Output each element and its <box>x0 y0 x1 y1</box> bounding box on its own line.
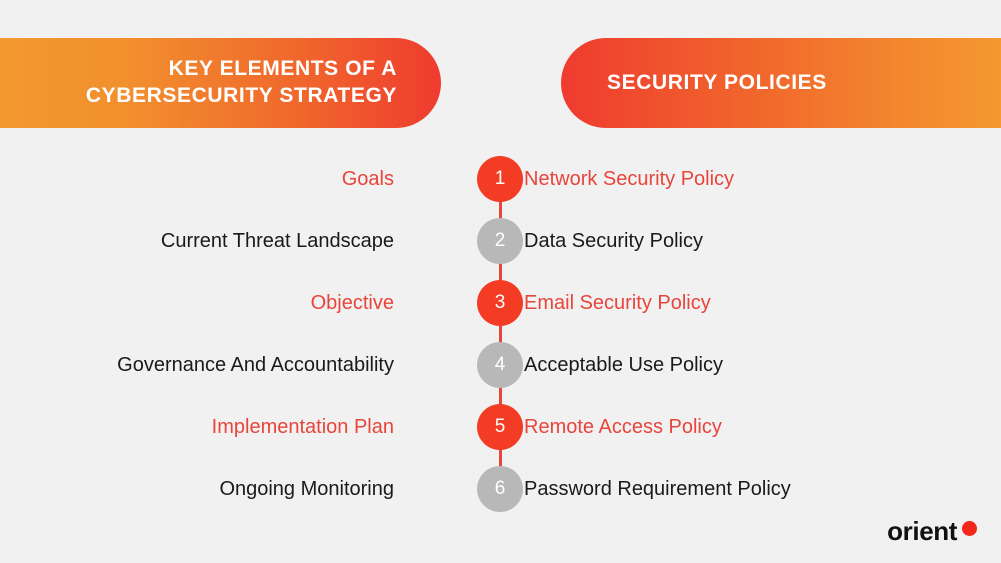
timeline-row-left: Governance And Accountability <box>0 353 460 377</box>
security-policy-label: Data Security Policy <box>524 229 703 253</box>
timeline-row: Goals 1 Network Security Policy <box>0 148 1001 210</box>
banner-key-elements: KEY ELEMENTS OF A CYBERSECURITY STRATEGY <box>0 38 441 128</box>
timeline-row: Objective 3 Email Security Policy <box>0 272 1001 334</box>
timeline-row-left: Goals <box>0 167 460 191</box>
timeline-row-right: Acceptable Use Policy <box>460 353 920 377</box>
security-policy-label: Network Security Policy <box>524 167 734 191</box>
timeline-step-number: 1 <box>477 156 523 202</box>
timeline-row-left: Implementation Plan <box>0 415 460 439</box>
timeline-row-left: Objective <box>0 291 460 315</box>
banner-right-title: SECURITY POLICIES <box>607 70 827 97</box>
logo-dot-icon <box>962 521 977 536</box>
timeline: Goals 1 Network Security Policy Current … <box>0 148 1001 520</box>
banner-left-title-line2: CYBERSECURITY STRATEGY <box>86 84 397 107</box>
security-policy-label: Password Requirement Policy <box>524 477 791 501</box>
security-policy-label: Email Security Policy <box>524 291 711 315</box>
timeline-step-number: 3 <box>477 280 523 326</box>
timeline-row: Implementation Plan 5 Remote Access Poli… <box>0 396 1001 458</box>
banner-left-title-line1: KEY ELEMENTS OF A <box>169 57 397 80</box>
timeline-step-number: 4 <box>477 342 523 388</box>
timeline-row: Current Threat Landscape 2 Data Security… <box>0 210 1001 272</box>
banner-left-title: KEY ELEMENTS OF A CYBERSECURITY STRATEGY <box>86 56 397 110</box>
key-element-label: Goals <box>342 167 394 191</box>
orient-logo: orient <box>887 518 977 544</box>
key-element-label: Governance And Accountability <box>117 353 394 377</box>
key-element-label: Current Threat Landscape <box>161 229 394 253</box>
timeline-step-number: 2 <box>477 218 523 264</box>
timeline-row-right: Password Requirement Policy <box>460 477 920 501</box>
banner-security-policies: SECURITY POLICIES <box>561 38 1001 128</box>
timeline-step-number: 5 <box>477 404 523 450</box>
timeline-row-right: Email Security Policy <box>460 291 920 315</box>
timeline-row-right: Data Security Policy <box>460 229 920 253</box>
key-element-label: Implementation Plan <box>212 415 394 439</box>
timeline-row: Ongoing Monitoring 6 Password Requiremen… <box>0 458 1001 520</box>
timeline-row-right: Remote Access Policy <box>460 415 920 439</box>
security-policy-label: Remote Access Policy <box>524 415 722 439</box>
timeline-row-left: Ongoing Monitoring <box>0 477 460 501</box>
security-policy-label: Acceptable Use Policy <box>524 353 723 377</box>
timeline-row-left: Current Threat Landscape <box>0 229 460 253</box>
logo-wordmark: orient <box>887 518 957 544</box>
timeline-step-number: 6 <box>477 466 523 512</box>
timeline-row-right: Network Security Policy <box>460 167 920 191</box>
infographic-canvas: KEY ELEMENTS OF A CYBERSECURITY STRATEGY… <box>0 0 1001 563</box>
key-element-label: Objective <box>311 291 394 315</box>
timeline-row: Governance And Accountability 4 Acceptab… <box>0 334 1001 396</box>
key-element-label: Ongoing Monitoring <box>219 477 394 501</box>
